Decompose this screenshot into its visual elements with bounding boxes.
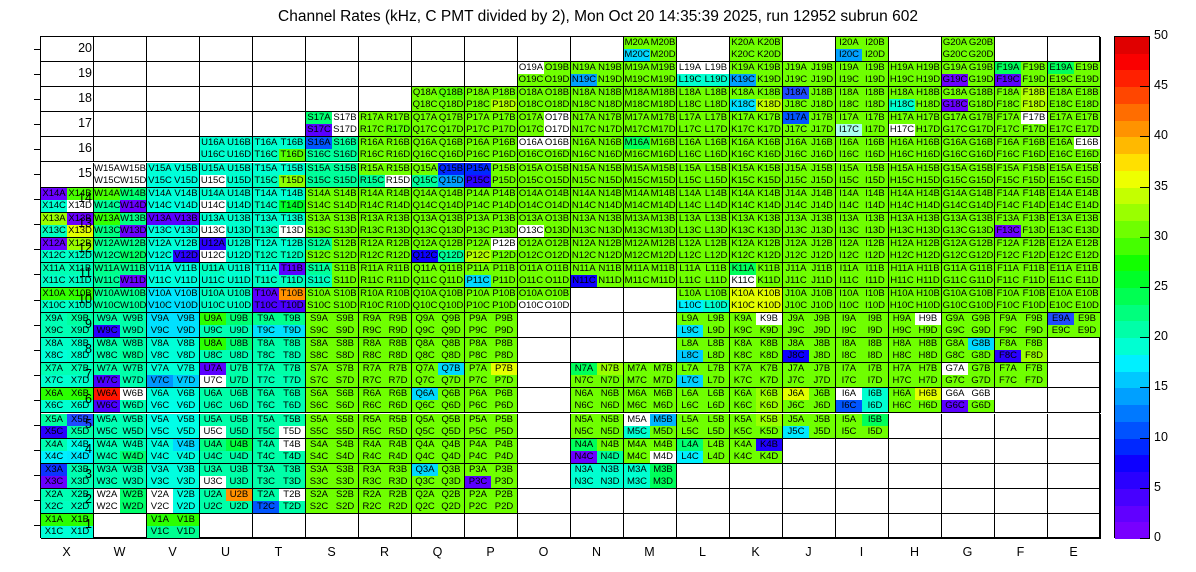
channel-J10B[interactable]: J10B	[809, 288, 835, 300]
channel-L18A[interactable]: L18A	[677, 87, 703, 99]
channel-P9B[interactable]: P9B	[491, 313, 517, 325]
channel-R17C[interactable]: R17C	[359, 124, 385, 136]
channel-H11B[interactable]: H11B	[915, 263, 941, 275]
channel-G13B[interactable]: G13B	[968, 213, 994, 225]
channel-L9C[interactable]: L9C	[677, 325, 703, 337]
channel-N17C[interactable]: N17C	[571, 124, 597, 136]
channel-T16A[interactable]: T16A	[253, 137, 279, 149]
channel-J16D[interactable]: J16D	[809, 149, 835, 161]
channel-P5A[interactable]: P5A	[465, 414, 491, 426]
channel-E16D[interactable]: E16D	[1074, 149, 1100, 161]
channel-K10D[interactable]: K10D	[756, 300, 782, 312]
channel-K12A[interactable]: K12A	[730, 238, 756, 250]
channel-V3D[interactable]: V3D	[173, 476, 199, 488]
channel-L9D[interactable]: L9D	[703, 325, 729, 337]
channel-L14C[interactable]: L14C	[677, 200, 703, 212]
channel-L19A[interactable]: L19A	[677, 62, 703, 74]
channel-I14C[interactable]: I14C	[836, 200, 862, 212]
channel-S13C[interactable]: S13C	[306, 225, 332, 237]
channel-S8A[interactable]: S8A	[306, 338, 332, 350]
channel-I20A[interactable]: I20A	[836, 37, 862, 49]
channel-T14D[interactable]: T14D	[279, 200, 305, 212]
channel-Q12A[interactable]: Q12A	[412, 238, 438, 250]
channel-Q7C[interactable]: Q7C	[412, 375, 438, 387]
channel-K4A[interactable]: K4A	[730, 439, 756, 451]
channel-H16A[interactable]: H16A	[889, 137, 915, 149]
channel-H6C[interactable]: H6C	[889, 400, 915, 412]
channel-F15A[interactable]: F15A	[995, 163, 1021, 175]
channel-O17A[interactable]: O17A	[518, 112, 544, 124]
channel-G17C[interactable]: G17C	[942, 124, 968, 136]
channel-R4C[interactable]: R4C	[359, 451, 385, 463]
channel-R8B[interactable]: R8B	[385, 338, 411, 350]
channel-U4B[interactable]: U4B	[226, 439, 252, 451]
channel-N3B[interactable]: N3B	[597, 464, 623, 476]
channel-U14B[interactable]: U14B	[226, 188, 252, 200]
channel-L11B[interactable]: L11B	[703, 263, 729, 275]
channel-N11A[interactable]: N11A	[571, 263, 597, 275]
channel-U10B[interactable]: U10B	[226, 288, 252, 300]
channel-M16B[interactable]: M16B	[650, 137, 676, 149]
channel-M17C[interactable]: M17C	[624, 124, 650, 136]
channel-P2A[interactable]: P2A	[465, 489, 491, 501]
channel-O15C[interactable]: O15C	[518, 175, 544, 187]
channel-T5D[interactable]: T5D	[279, 426, 305, 438]
channel-P3D[interactable]: P3D	[491, 476, 517, 488]
channel-H19D[interactable]: H19D	[915, 74, 941, 86]
channel-L17B[interactable]: L17B	[703, 112, 729, 124]
channel-R14B[interactable]: R14B	[385, 188, 411, 200]
channel-S12A[interactable]: S12A	[306, 238, 332, 250]
channel-G18A[interactable]: G18A	[942, 87, 968, 99]
channel-E17D[interactable]: E17D	[1074, 124, 1100, 136]
channel-V7D[interactable]: V7D	[173, 375, 199, 387]
channel-J17D[interactable]: J17D	[809, 124, 835, 136]
channel-J17B[interactable]: J17B	[809, 112, 835, 124]
channel-P15B[interactable]: P15B	[491, 163, 517, 175]
channel-Q3C[interactable]: Q3C	[412, 476, 438, 488]
channel-T10A[interactable]: T10A	[253, 288, 279, 300]
channel-K11C[interactable]: K11C	[730, 275, 756, 287]
channel-I13D[interactable]: I13D	[862, 225, 888, 237]
channel-P7B[interactable]: P7B	[491, 363, 517, 375]
channel-O18A[interactable]: O18A	[518, 87, 544, 99]
channel-R7A[interactable]: R7A	[359, 363, 385, 375]
channel-H7D[interactable]: H7D	[915, 375, 941, 387]
channel-P11B[interactable]: P11B	[491, 263, 517, 275]
channel-T6C[interactable]: T6C	[253, 400, 279, 412]
channel-N6D[interactable]: N6D	[597, 400, 623, 412]
channel-U15B[interactable]: U15B	[226, 163, 252, 175]
channel-N7B[interactable]: N7B	[597, 363, 623, 375]
channel-S16B[interactable]: S16B	[332, 137, 358, 149]
channel-V3C[interactable]: V3C	[147, 476, 173, 488]
channel-N3C[interactable]: N3C	[571, 476, 597, 488]
channel-P9D[interactable]: P9D	[491, 325, 517, 337]
channel-L15B[interactable]: L15B	[703, 163, 729, 175]
channel-F18C[interactable]: F18C	[995, 99, 1021, 111]
channel-N16D[interactable]: N16D	[597, 149, 623, 161]
channel-S17A[interactable]: S17A	[306, 112, 332, 124]
channel-V5C[interactable]: V5C	[147, 426, 173, 438]
channel-Q15B[interactable]: Q15B	[438, 163, 464, 175]
channel-G14D[interactable]: G14D	[968, 200, 994, 212]
channel-H12A[interactable]: H12A	[889, 238, 915, 250]
channel-W11D[interactable]: W11D	[120, 275, 146, 287]
channel-U8D[interactable]: U8D	[226, 350, 252, 362]
channel-O18C[interactable]: O18C	[518, 99, 544, 111]
channel-W8A[interactable]: W8A	[94, 338, 120, 350]
channel-R7D[interactable]: R7D	[385, 375, 411, 387]
channel-Q7B[interactable]: Q7B	[438, 363, 464, 375]
channel-E17C[interactable]: E17C	[1048, 124, 1074, 136]
channel-Q11D[interactable]: Q11D	[438, 275, 464, 287]
channel-F7A[interactable]: F7A	[995, 363, 1021, 375]
channel-S3A[interactable]: S3A	[306, 464, 332, 476]
channel-H16C[interactable]: H16C	[889, 149, 915, 161]
channel-M19B[interactable]: M19B	[650, 62, 676, 74]
channel-U5A[interactable]: U5A	[200, 414, 226, 426]
channel-I8B[interactable]: I8B	[862, 338, 888, 350]
channel-P9C[interactable]: P9C	[465, 325, 491, 337]
channel-U13D[interactable]: U13D	[226, 225, 252, 237]
channel-V13C[interactable]: V13C	[147, 225, 173, 237]
channel-I9B[interactable]: I9B	[862, 313, 888, 325]
channel-G20B[interactable]: G20B	[968, 37, 994, 49]
channel-W3A[interactable]: W3A	[94, 464, 120, 476]
channel-V8D[interactable]: V8D	[173, 350, 199, 362]
channel-K6D[interactable]: K6D	[756, 400, 782, 412]
channel-I7C[interactable]: I7C	[836, 375, 862, 387]
channel-K11D[interactable]: K11D	[756, 275, 782, 287]
channel-J12B[interactable]: J12B	[809, 238, 835, 250]
channel-N11C[interactable]: N11C	[571, 275, 597, 287]
channel-T14B[interactable]: T14B	[279, 188, 305, 200]
channel-J13B[interactable]: J13B	[809, 213, 835, 225]
channel-S15D[interactable]: S15D	[332, 175, 358, 187]
channel-K16B[interactable]: K16B	[756, 137, 782, 149]
channel-N5C[interactable]: N5C	[571, 426, 597, 438]
channel-W15B[interactable]: W15B	[120, 163, 146, 175]
channel-E15A[interactable]: E15A	[1048, 163, 1074, 175]
channel-N7D[interactable]: N7D	[597, 375, 623, 387]
channel-J14D[interactable]: J14D	[809, 200, 835, 212]
channel-I12B[interactable]: I12B	[862, 238, 888, 250]
channel-K14D[interactable]: K14D	[756, 200, 782, 212]
channel-L15D[interactable]: L15D	[703, 175, 729, 187]
channel-F14B[interactable]: F14B	[1021, 188, 1047, 200]
channel-P11A[interactable]: P11A	[465, 263, 491, 275]
channel-Q12D[interactable]: Q12D	[438, 250, 464, 262]
channel-T13B[interactable]: T13B	[279, 213, 305, 225]
channel-G8B[interactable]: G8B	[968, 338, 994, 350]
channel-Q14B[interactable]: Q14B	[438, 188, 464, 200]
channel-N6B[interactable]: N6B	[597, 388, 623, 400]
channel-H12B[interactable]: H12B	[915, 238, 941, 250]
channel-G19B[interactable]: G19B	[968, 62, 994, 74]
channel-T15A[interactable]: T15A	[253, 163, 279, 175]
channel-G7B[interactable]: G7B	[968, 363, 994, 375]
channel-J14A[interactable]: J14A	[783, 188, 809, 200]
channel-M7B[interactable]: M7B	[650, 363, 676, 375]
channel-J18B[interactable]: J18B	[809, 87, 835, 99]
channel-E18A[interactable]: E18A	[1048, 87, 1074, 99]
channel-M20A[interactable]: M20A	[624, 37, 650, 49]
channel-N14B[interactable]: N14B	[597, 188, 623, 200]
channel-U14C[interactable]: U14C	[200, 200, 226, 212]
channel-F9A[interactable]: F9A	[995, 313, 1021, 325]
channel-K16D[interactable]: K16D	[756, 149, 782, 161]
channel-V4B[interactable]: V4B	[173, 439, 199, 451]
channel-U11C[interactable]: U11C	[200, 275, 226, 287]
channel-E9A[interactable]: E9A	[1048, 313, 1074, 325]
channel-M5B[interactable]: M5B	[650, 414, 676, 426]
channel-Q14A[interactable]: Q14A	[412, 188, 438, 200]
channel-G12B[interactable]: G12B	[968, 238, 994, 250]
channel-I20B[interactable]: I20B	[862, 37, 888, 49]
channel-G18B[interactable]: G18B	[968, 87, 994, 99]
channel-J8D[interactable]: J8D	[809, 350, 835, 362]
channel-Q4C[interactable]: Q4C	[412, 451, 438, 463]
channel-G16A[interactable]: G16A	[942, 137, 968, 149]
channel-E17B[interactable]: E17B	[1074, 112, 1100, 124]
channel-H10A[interactable]: H10A	[889, 288, 915, 300]
channel-O17D[interactable]: O17D	[544, 124, 570, 136]
channel-P10A[interactable]: P10A	[465, 288, 491, 300]
channel-K9C[interactable]: K9C	[730, 325, 756, 337]
channel-M13B[interactable]: M13B	[650, 213, 676, 225]
channel-R10D[interactable]: R10D	[385, 300, 411, 312]
channel-P6D[interactable]: P6D	[491, 400, 517, 412]
channel-G15D[interactable]: G15D	[968, 175, 994, 187]
channel-R5B[interactable]: R5B	[385, 414, 411, 426]
channel-T14A[interactable]: T14A	[253, 188, 279, 200]
channel-S4A[interactable]: S4A	[306, 439, 332, 451]
channel-J13D[interactable]: J13D	[809, 225, 835, 237]
channel-F16B[interactable]: F16B	[1021, 137, 1047, 149]
channel-V14C[interactable]: V14C	[147, 200, 173, 212]
channel-M15B[interactable]: M15B	[650, 163, 676, 175]
channel-P4A[interactable]: P4A	[465, 439, 491, 451]
channel-K7B[interactable]: K7B	[756, 363, 782, 375]
channel-T11A[interactable]: T11A	[253, 263, 279, 275]
channel-U11A[interactable]: U11A	[200, 263, 226, 275]
channel-H16B[interactable]: H16B	[915, 137, 941, 149]
channel-W8B[interactable]: W8B	[120, 338, 146, 350]
channel-M18A[interactable]: M18A	[624, 87, 650, 99]
channel-L6D[interactable]: L6D	[703, 400, 729, 412]
channel-I17D[interactable]: I17D	[862, 124, 888, 136]
channel-K20C[interactable]: K20C	[730, 49, 756, 61]
channel-V9D[interactable]: V9D	[173, 325, 199, 337]
channel-M7A[interactable]: M7A	[624, 363, 650, 375]
channel-L19B[interactable]: L19B	[703, 62, 729, 74]
channel-R16C[interactable]: R16C	[359, 149, 385, 161]
channel-U3B[interactable]: U3B	[226, 464, 252, 476]
channel-W15A[interactable]: W15A	[94, 163, 120, 175]
channel-K13C[interactable]: K13C	[730, 225, 756, 237]
channel-H15A[interactable]: H15A	[889, 163, 915, 175]
channel-K15B[interactable]: K15B	[756, 163, 782, 175]
channel-G20A[interactable]: G20A	[942, 37, 968, 49]
channel-U2B[interactable]: U2B	[226, 489, 252, 501]
channel-L8B[interactable]: L8B	[703, 338, 729, 350]
channel-U16A[interactable]: U16A	[200, 137, 226, 149]
channel-P8C[interactable]: P8C	[465, 350, 491, 362]
channel-I6C[interactable]: I6C	[836, 400, 862, 412]
channel-J19A[interactable]: J19A	[783, 62, 809, 74]
channel-L19C[interactable]: L19C	[677, 74, 703, 86]
channel-V6D[interactable]: V6D	[173, 400, 199, 412]
channel-G9D[interactable]: G9D	[968, 325, 994, 337]
channel-W8D[interactable]: W8D	[120, 350, 146, 362]
channel-R12B[interactable]: R12B	[385, 238, 411, 250]
channel-U5C[interactable]: U5C	[200, 426, 226, 438]
channel-P12D[interactable]: P12D	[491, 250, 517, 262]
channel-M4A[interactable]: M4A	[624, 439, 650, 451]
channel-U6D[interactable]: U6D	[226, 400, 252, 412]
channel-Q2D[interactable]: Q2D	[438, 501, 464, 513]
channel-P5D[interactable]: P5D	[491, 426, 517, 438]
channel-H13C[interactable]: H13C	[889, 225, 915, 237]
channel-G17B[interactable]: G17B	[968, 112, 994, 124]
channel-G10D[interactable]: G10D	[968, 300, 994, 312]
channel-G9C[interactable]: G9C	[942, 325, 968, 337]
channel-P6A[interactable]: P6A	[465, 388, 491, 400]
channel-O15D[interactable]: O15D	[544, 175, 570, 187]
channel-S4C[interactable]: S4C	[306, 451, 332, 463]
channel-O19D[interactable]: O19D	[544, 74, 570, 86]
channel-U15D[interactable]: U15D	[226, 175, 252, 187]
channel-E18D[interactable]: E18D	[1074, 99, 1100, 111]
channel-N12B[interactable]: N12B	[597, 238, 623, 250]
channel-E14A[interactable]: E14A	[1048, 188, 1074, 200]
channel-H14B[interactable]: H14B	[915, 188, 941, 200]
channel-J16C[interactable]: J16C	[783, 149, 809, 161]
channel-S8C[interactable]: S8C	[306, 350, 332, 362]
channel-L8C[interactable]: L8C	[677, 350, 703, 362]
channel-V15D[interactable]: V15D	[173, 175, 199, 187]
channel-F19A[interactable]: F19A	[995, 62, 1021, 74]
channel-T4D[interactable]: T4D	[279, 451, 305, 463]
channel-M11A[interactable]: M11A	[624, 263, 650, 275]
channel-L5B[interactable]: L5B	[703, 414, 729, 426]
channel-K10B[interactable]: K10B	[756, 288, 782, 300]
channel-M16C[interactable]: M16C	[624, 149, 650, 161]
channel-V12D[interactable]: V12D	[173, 250, 199, 262]
channel-O10B[interactable]: O10B	[544, 288, 570, 300]
channel-T2A[interactable]: T2A	[253, 489, 279, 501]
channel-N16A[interactable]: N16A	[571, 137, 597, 149]
channel-T12C[interactable]: T12C	[253, 250, 279, 262]
channel-S11A[interactable]: S11A	[306, 263, 332, 275]
channel-K20B[interactable]: K20B	[756, 37, 782, 49]
channel-P12C[interactable]: P12C	[465, 250, 491, 262]
channel-G8C[interactable]: G8C	[942, 350, 968, 362]
channel-V7A[interactable]: V7A	[147, 363, 173, 375]
channel-L18C[interactable]: L18C	[677, 99, 703, 111]
channel-P9A[interactable]: P9A	[465, 313, 491, 325]
channel-V7C[interactable]: V7C	[147, 375, 173, 387]
channel-W7C[interactable]: W7C	[94, 375, 120, 387]
channel-R9C[interactable]: R9C	[359, 325, 385, 337]
channel-N19D[interactable]: N19D	[597, 74, 623, 86]
channel-R12D[interactable]: R12D	[385, 250, 411, 262]
channel-M7D[interactable]: M7D	[650, 375, 676, 387]
channel-V1C[interactable]: V1C	[147, 526, 173, 538]
channel-S4D[interactable]: S4D	[332, 451, 358, 463]
channel-M11C[interactable]: M11C	[624, 275, 650, 287]
channel-V2B[interactable]: V2B	[173, 489, 199, 501]
channel-T4B[interactable]: T4B	[279, 439, 305, 451]
channel-E13C[interactable]: E13C	[1048, 225, 1074, 237]
channel-N7C[interactable]: N7C	[571, 375, 597, 387]
channel-P17C[interactable]: P17C	[465, 124, 491, 136]
channel-E18B[interactable]: E18B	[1074, 87, 1100, 99]
channel-O16B[interactable]: O16B	[544, 137, 570, 149]
channel-F15D[interactable]: F15D	[1021, 175, 1047, 187]
channel-O14D[interactable]: O14D	[544, 200, 570, 212]
channel-I10A[interactable]: I10A	[836, 288, 862, 300]
channel-L12D[interactable]: L12D	[703, 250, 729, 262]
channel-M12D[interactable]: M12D	[650, 250, 676, 262]
channel-K6C[interactable]: K6C	[730, 400, 756, 412]
channel-H13B[interactable]: H13B	[915, 213, 941, 225]
channel-G14C[interactable]: G14C	[942, 200, 968, 212]
channel-S5D[interactable]: S5D	[332, 426, 358, 438]
channel-M14C[interactable]: M14C	[624, 200, 650, 212]
channel-N17D[interactable]: N17D	[597, 124, 623, 136]
channel-K8B[interactable]: K8B	[756, 338, 782, 350]
channel-K20D[interactable]: K20D	[756, 49, 782, 61]
channel-V13A[interactable]: V13A	[147, 213, 173, 225]
channel-P18A[interactable]: P18A	[465, 87, 491, 99]
channel-R9D[interactable]: R9D	[385, 325, 411, 337]
channel-S3B[interactable]: S3B	[332, 464, 358, 476]
channel-N15A[interactable]: N15A	[571, 163, 597, 175]
channel-F17A[interactable]: F17A	[995, 112, 1021, 124]
channel-G18C[interactable]: G18C	[942, 99, 968, 111]
channel-L15A[interactable]: L15A	[677, 163, 703, 175]
channel-M6B[interactable]: M6B	[650, 388, 676, 400]
channel-T2D[interactable]: T2D	[279, 501, 305, 513]
channel-M12A[interactable]: M12A	[624, 238, 650, 250]
channel-Q3B[interactable]: Q3B	[438, 464, 464, 476]
channel-H13D[interactable]: H13D	[915, 225, 941, 237]
channel-K13A[interactable]: K13A	[730, 213, 756, 225]
channel-R2A[interactable]: R2A	[359, 489, 385, 501]
channel-O18D[interactable]: O18D	[544, 99, 570, 111]
channel-J10A[interactable]: J10A	[783, 288, 809, 300]
channel-L11A[interactable]: L11A	[677, 263, 703, 275]
channel-R12A[interactable]: R12A	[359, 238, 385, 250]
channel-O12D[interactable]: O12D	[544, 250, 570, 262]
channel-E13D[interactable]: E13D	[1074, 225, 1100, 237]
channel-L5D[interactable]: L5D	[703, 426, 729, 438]
channel-I16B[interactable]: I16B	[862, 137, 888, 149]
channel-S9B[interactable]: S9B	[332, 313, 358, 325]
channel-H8C[interactable]: H8C	[889, 350, 915, 362]
channel-O13A[interactable]: O13A	[518, 213, 544, 225]
channel-N16C[interactable]: N16C	[571, 149, 597, 161]
channel-P14B[interactable]: P14B	[491, 188, 517, 200]
channel-G12C[interactable]: G12C	[942, 250, 968, 262]
channel-P15A[interactable]: P15A	[465, 163, 491, 175]
channel-J18A[interactable]: J18A	[783, 87, 809, 99]
channel-T7A[interactable]: T7A	[253, 363, 279, 375]
channel-J7C[interactable]: J7C	[783, 375, 809, 387]
channel-M15A[interactable]: M15A	[624, 163, 650, 175]
